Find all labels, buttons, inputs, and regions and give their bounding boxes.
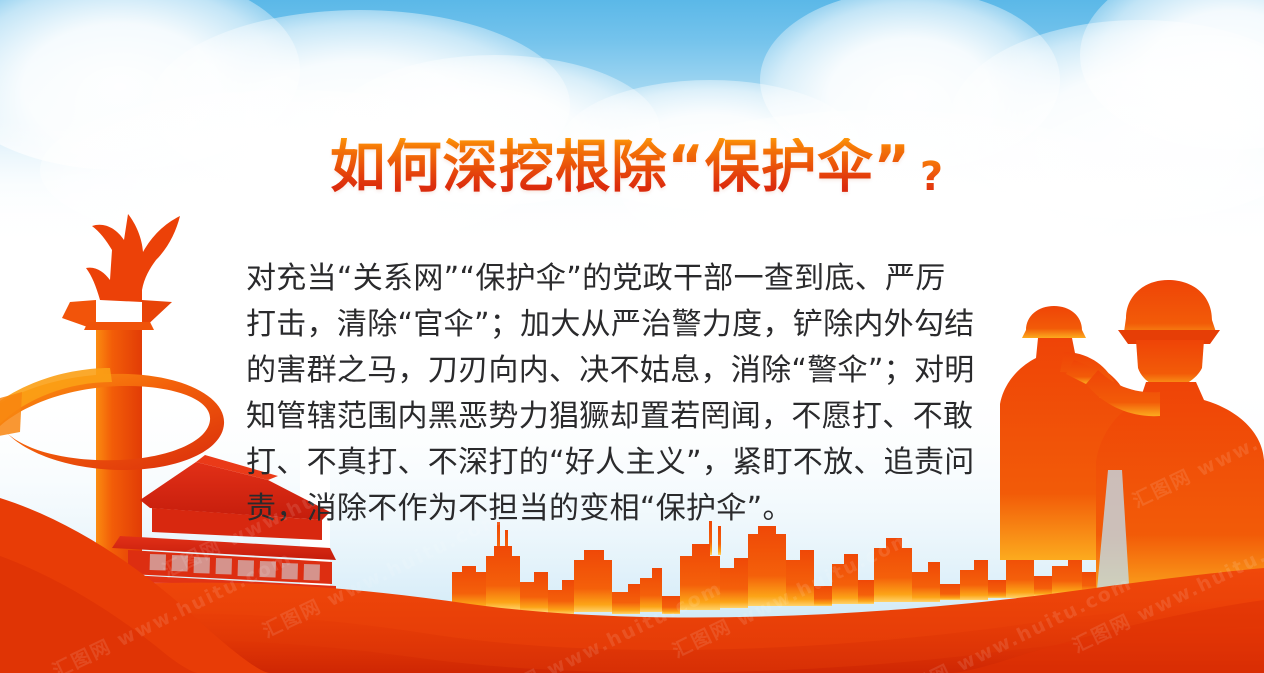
body-line: 打击，清除“官伞”；加大从严治警力度，铲除内外勾结	[246, 302, 1036, 348]
body-line: 知管辖范围内黑恶势力猖獗却置若罔闻，不愿打、不敢	[246, 394, 1036, 440]
saluting-officers	[1000, 280, 1264, 600]
body-line: 责，消除不作为不担当的变相“保护伞”。	[246, 486, 1036, 532]
body-line: 的害群之马，刀刃向内、决不姑息，消除“警伞”；对明	[246, 348, 1036, 394]
page-title: 如何深挖根除“保护伞”?	[0, 138, 1264, 200]
title-question-mark: ?	[920, 154, 943, 200]
body-line: 打、不真打、不深打的“好人主义”，紧盯不放、追责问	[246, 440, 1036, 486]
body-line: 对充当“关系网”“保护伞”的党政干部一查到底、严厉	[246, 256, 1036, 302]
slide-root: 如何深挖根除“保护伞”? 对充当“关系网”“保护伞”的党政干部一查到底、严厉 打…	[0, 0, 1264, 673]
title-text: 如何深挖根除“保护伞”	[330, 138, 911, 198]
body-paragraph: 对充当“关系网”“保护伞”的党政干部一查到底、严厉 打击，清除“官伞”；加大从严…	[246, 256, 1036, 532]
